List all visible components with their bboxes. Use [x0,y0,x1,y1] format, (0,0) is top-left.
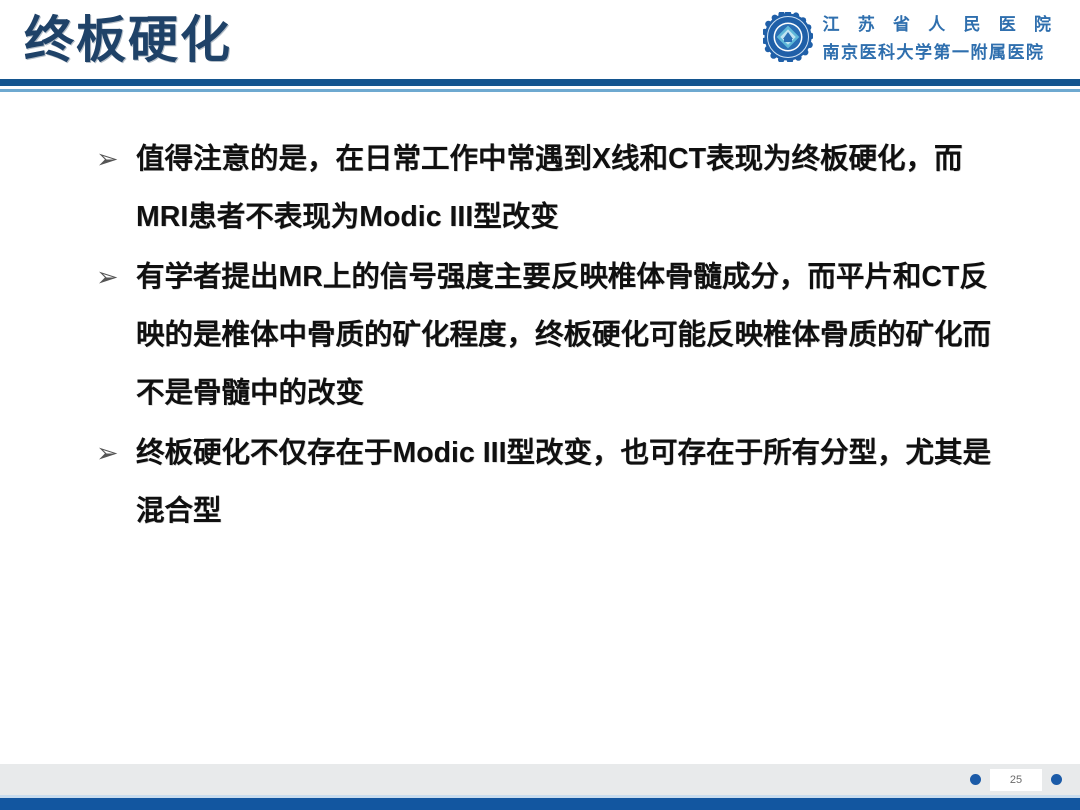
footer-band [0,764,1080,795]
slide-header: 终板硬化 [0,0,1080,95]
footer-bottom-bar [0,798,1080,810]
presentation-slide: 终板硬化 [0,0,1080,810]
arrowhead-bullet-icon: ➢ [96,132,130,188]
hospital-name-text: 江 苏 省 人 民 医 院 南京医科大学第一附属医院 [823,10,1059,63]
hospital-name-primary: 江 苏 省 人 民 医 院 [823,10,1059,35]
slide-navigation: 25 [970,767,1062,792]
previous-slide-dot[interactable] [970,774,981,785]
hospital-logo: 江 苏 省 人 民 医 院 南京医科大学第一附属医院 [763,10,1059,63]
bullet-item: ➢ 值得注意的是，在日常工作中常遇到X线和CT表现为终板硬化，而MRI患者不表现… [0,130,1080,246]
bullet-item: ➢ 有学者提出MR上的信号强度主要反映椎体骨髓成分，而平片和CT反映的是椎体中骨… [0,248,1080,422]
bullet-text: 值得注意的是，在日常工作中常遇到X线和CT表现为终板硬化，而MRI患者不表现为M… [136,130,996,246]
bullet-item: ➢ 终板硬化不仅存在于Modic III型改变，也可存在于所有分型，尤其是混合型 [0,424,1080,540]
hospital-name-secondary: 南京医科大学第一附属医院 [823,38,1059,63]
title-rule-thick [0,79,1080,86]
arrowhead-bullet-icon: ➢ [96,426,130,482]
hospital-seal-emblem [763,12,813,62]
title-rule-thin [0,89,1080,92]
page-title: 终板硬化 [24,8,232,72]
arrowhead-bullet-icon: ➢ [96,250,130,306]
next-slide-dot[interactable] [1051,774,1062,785]
slide-footer: 25 [0,764,1080,810]
slide-body: ➢ 值得注意的是，在日常工作中常遇到X线和CT表现为终板硬化，而MRI患者不表现… [0,130,1080,750]
page-number[interactable]: 25 [990,769,1042,791]
bullet-text: 终板硬化不仅存在于Modic III型改变，也可存在于所有分型，尤其是混合型 [136,424,996,540]
bullet-text: 有学者提出MR上的信号强度主要反映椎体骨髓成分，而平片和CT反映的是椎体中骨质的… [136,248,996,422]
